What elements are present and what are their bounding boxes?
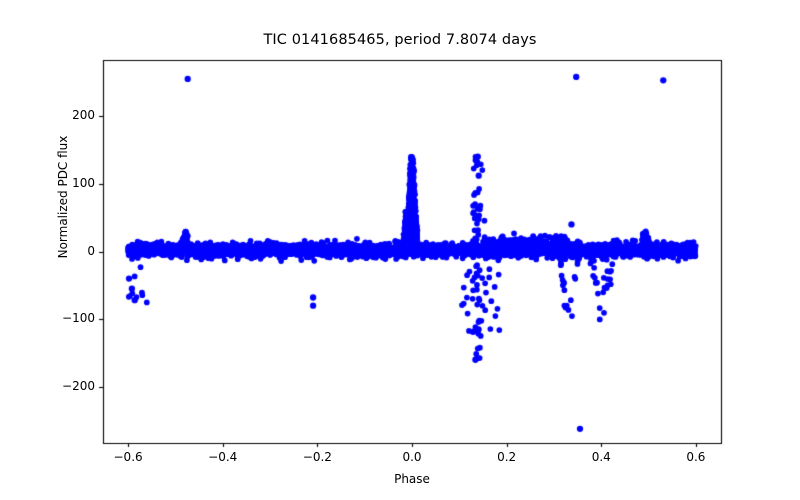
y-tick-label: 0 [35,244,95,258]
x-tick-label: 0.0 [382,450,442,464]
scatter-plot-canvas[interactable] [0,0,800,500]
x-tick-label: −0.6 [98,450,158,464]
x-axis-label: Phase [103,472,721,486]
x-tick-label: 0.6 [666,450,726,464]
x-tick-label: −0.2 [287,450,347,464]
page-title: TIC 0141685465, period 7.8074 days [0,32,800,48]
y-tick-label: 100 [35,176,95,190]
figure-container: TIC 0141685465, period 7.8074 days Phase… [0,0,800,500]
x-tick-label: 0.2 [477,450,537,464]
x-tick-label: −0.4 [193,450,253,464]
x-tick-label: 0.4 [571,450,631,464]
y-tick-label: −200 [35,379,95,393]
y-tick-label: 200 [35,108,95,122]
y-tick-label: −100 [35,311,95,325]
